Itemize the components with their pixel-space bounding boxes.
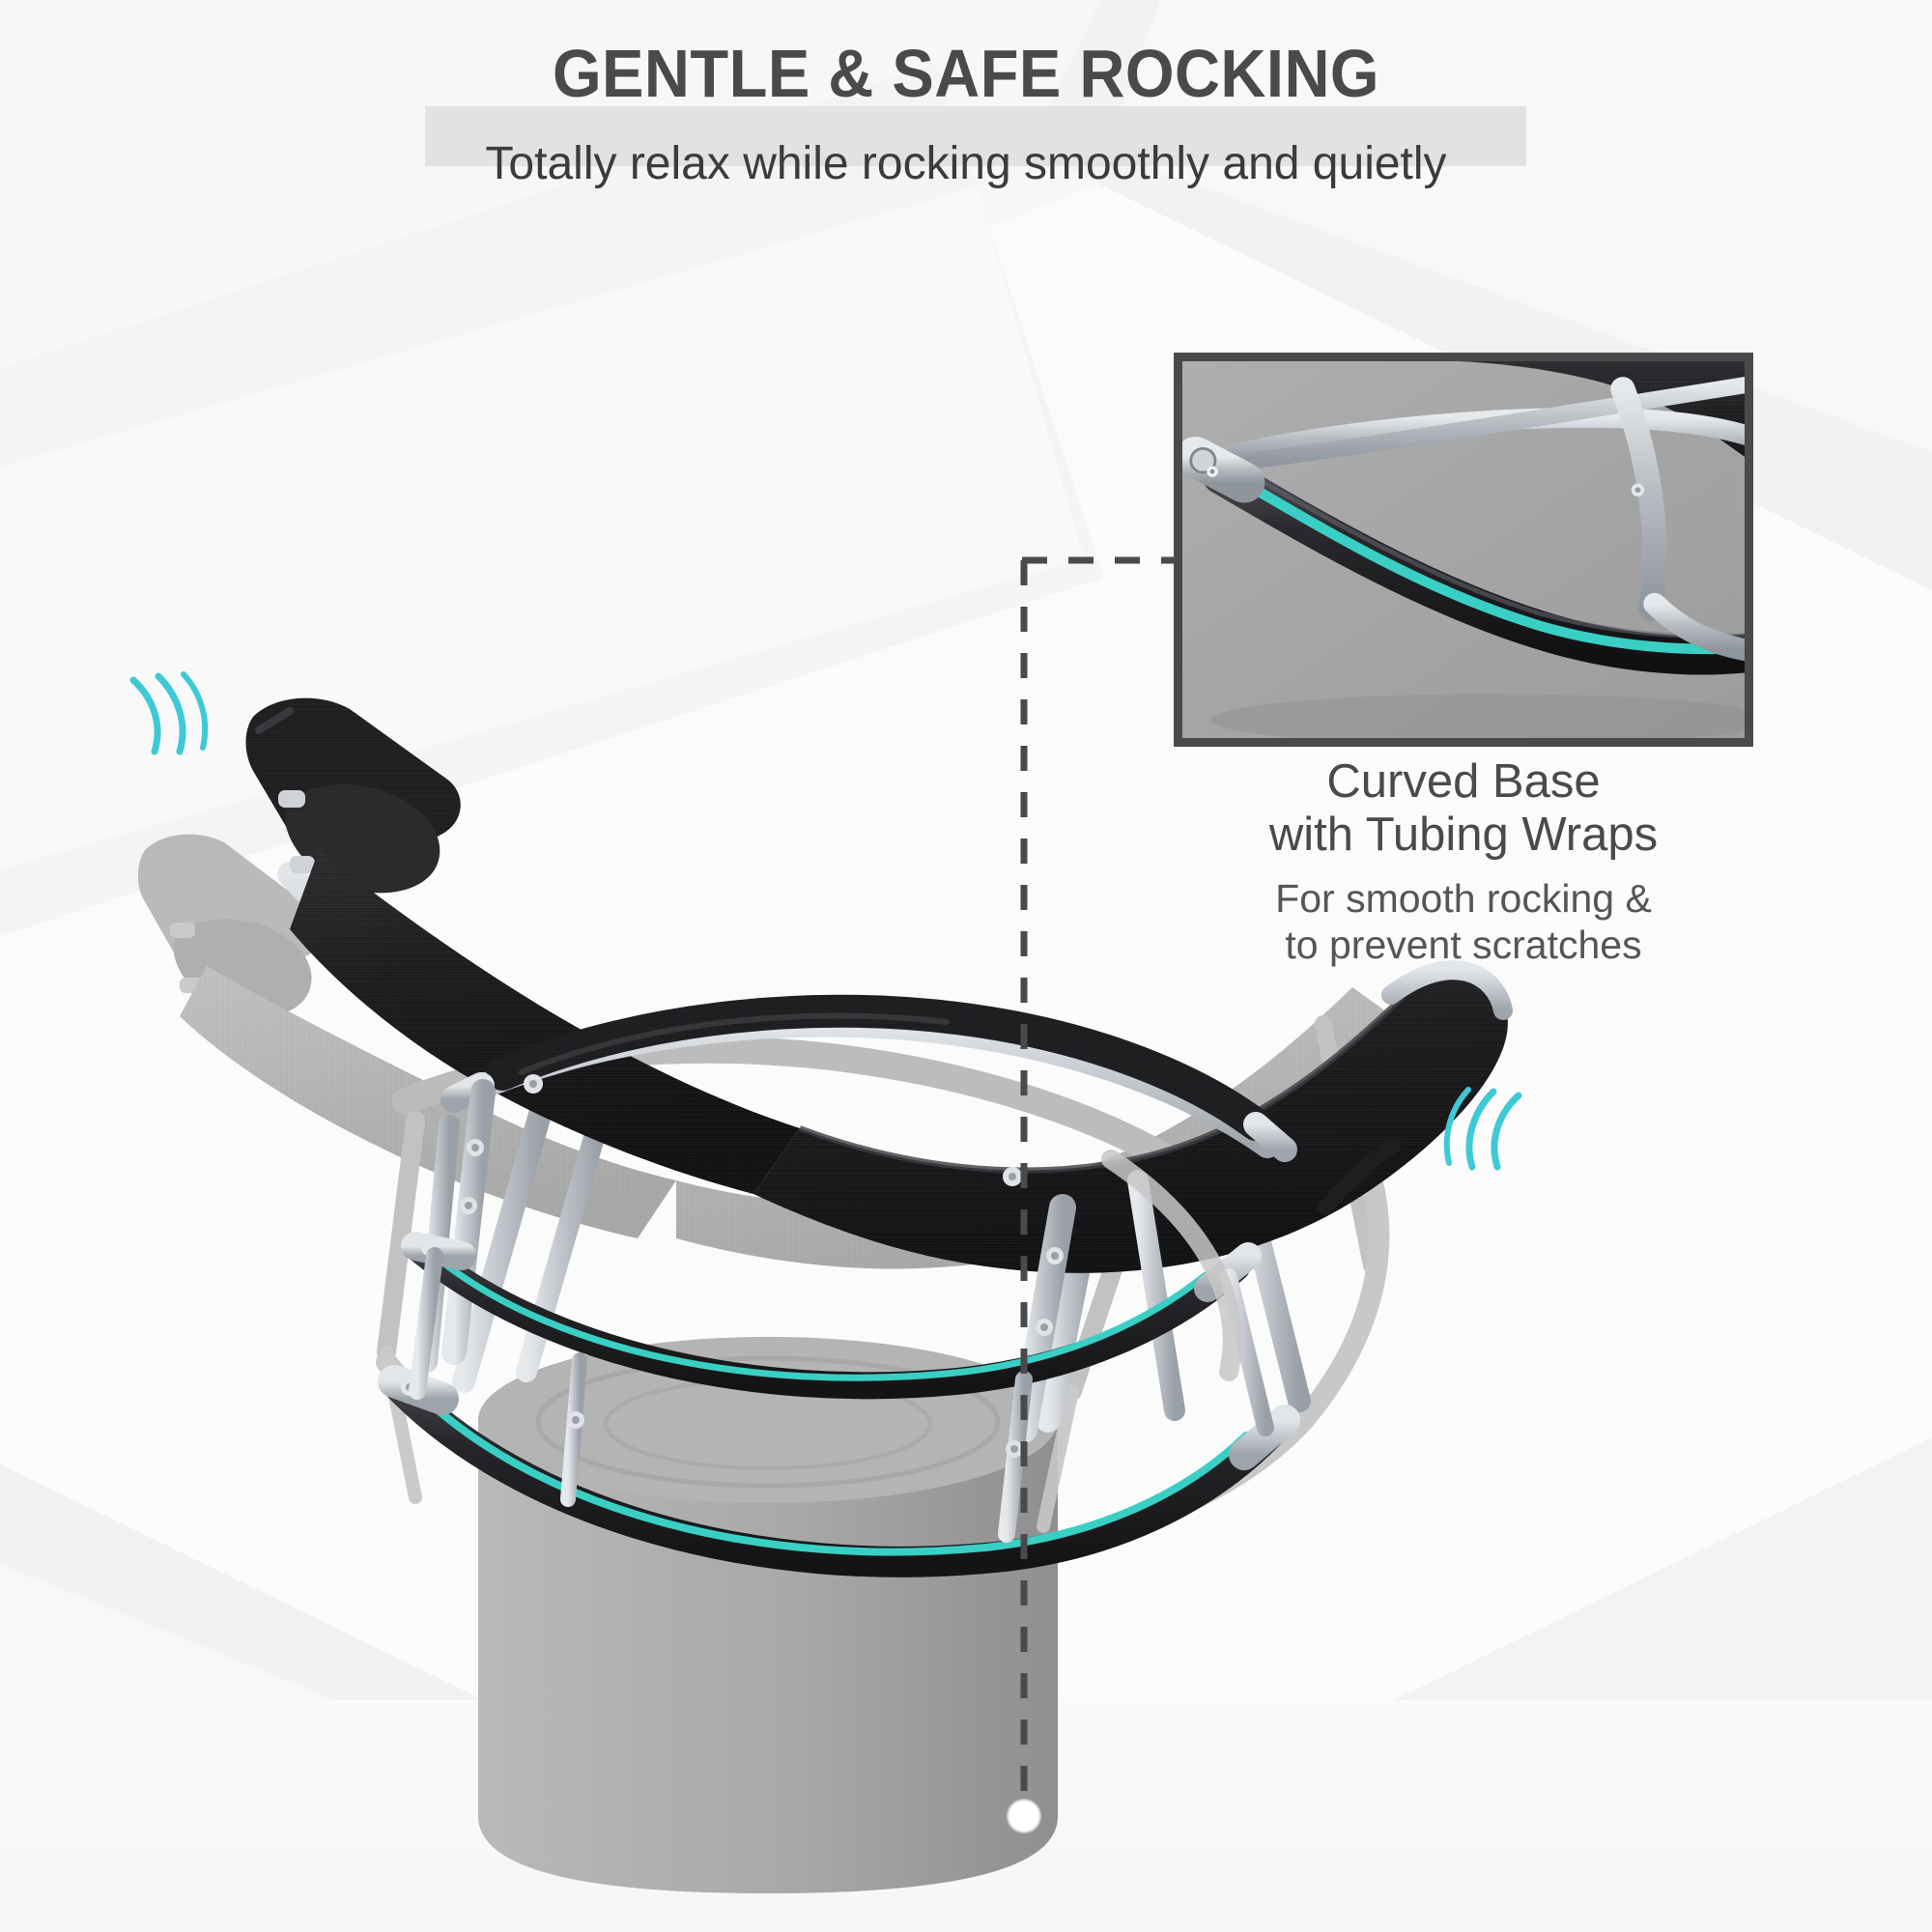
callout-heading: Curved Base with Tubing Wraps [1159, 755, 1768, 862]
callout-heading-line-2: with Tubing Wraps [1159, 809, 1768, 862]
detail-inset-artwork [1182, 361, 1745, 738]
motion-arc-left-icon [116, 667, 222, 763]
detail-inset-photo [1174, 353, 1753, 747]
leader-endpoint-dot [1008, 1800, 1040, 1833]
callout-subtext-line-2: to prevent scratches [1159, 922, 1768, 968]
callout-heading-line-1: Curved Base [1159, 755, 1768, 809]
callout-text-block: Curved Base with Tubing Wraps For smooth… [1159, 755, 1768, 969]
callout-subtext: For smooth rocking & to prevent scratche… [1159, 875, 1768, 969]
motion-arc-right-icon [1430, 1082, 1536, 1179]
callout-subtext-line-1: For smooth rocking & [1159, 875, 1768, 922]
